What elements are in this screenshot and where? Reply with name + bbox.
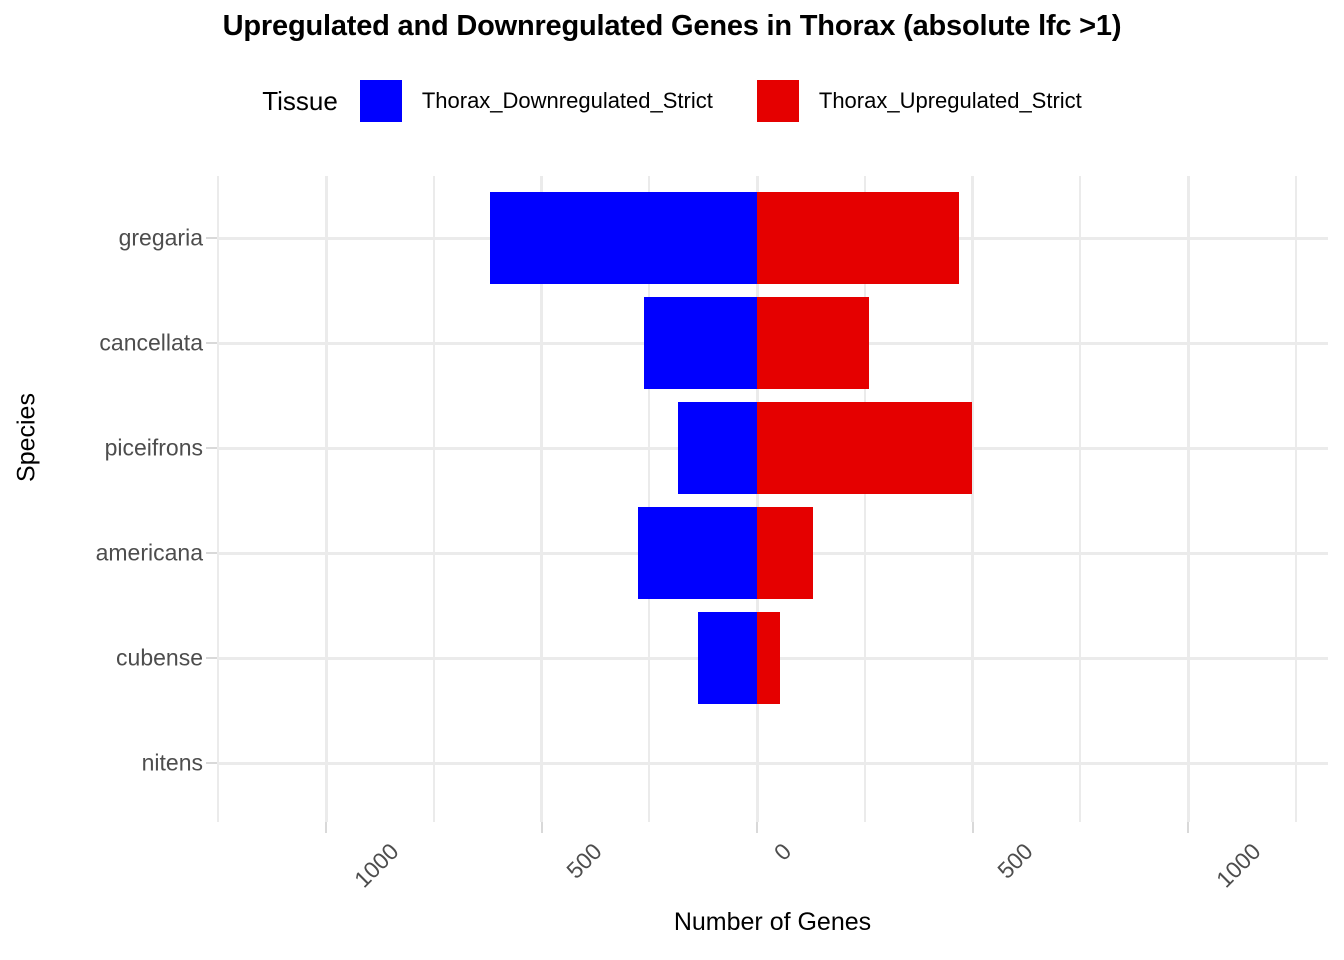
legend-item-upregulated[interactable]: Thorax_Upregulated_Strict: [757, 80, 1082, 122]
chart-figure: Upregulated and Downregulated Genes in T…: [0, 0, 1344, 960]
legend: Tissue Thorax_Downregulated_Strict Thora…: [0, 80, 1344, 122]
y-tick-label-cancellata: cancellata: [3, 330, 203, 357]
gridline-vertical-minor: [433, 176, 435, 822]
gridline-vertical-minor: [1079, 176, 1081, 822]
plot-panel: [217, 176, 1328, 822]
legend-title: Tissue: [262, 86, 338, 117]
bar-upregulated[interactable]: [757, 297, 869, 389]
y-tick-label-gregaria: gregaria: [3, 225, 203, 252]
page-title: Upregulated and Downregulated Genes in T…: [0, 10, 1344, 43]
y-tick-mark: [206, 657, 217, 659]
bar-downregulated[interactable]: [678, 402, 757, 494]
x-tick-label-2: 0: [769, 838, 797, 866]
gridline-vertical-minor: [217, 176, 219, 822]
legend-swatch-upregulated: [757, 80, 799, 122]
bar-downregulated[interactable]: [638, 507, 757, 599]
legend-label-downregulated: Thorax_Downregulated_Strict: [422, 88, 713, 114]
y-tick-label-cubense: cubense: [3, 645, 203, 672]
y-tick-label-nitens: nitens: [3, 750, 203, 777]
x-tick-label-0: 1000: [349, 838, 404, 893]
y-tick-label-piceifrons: piceifrons: [3, 435, 203, 462]
y-tick-label-americana: americana: [3, 540, 203, 567]
bar-upregulated[interactable]: [757, 612, 780, 704]
gridline-vertical-major: [325, 176, 328, 822]
legend-label-upregulated: Thorax_Upregulated_Strict: [819, 88, 1082, 114]
y-tick-mark: [206, 447, 217, 449]
x-axis-title: Number of Genes: [217, 908, 1328, 937]
y-tick-mark: [206, 342, 217, 344]
gridline-vertical-minor: [1295, 176, 1297, 822]
x-tick-mark: [972, 822, 974, 833]
x-tick-label-1: 500: [561, 838, 607, 884]
legend-item-downregulated[interactable]: Thorax_Downregulated_Strict: [360, 80, 713, 122]
x-tick-mark: [325, 822, 327, 833]
x-tick-mark: [1187, 822, 1189, 833]
bar-downregulated[interactable]: [698, 612, 757, 704]
bar-upregulated[interactable]: [757, 192, 959, 284]
bar-downregulated[interactable]: [644, 297, 757, 389]
x-tick-label-3: 500: [992, 838, 1038, 884]
gridline-horizontal: [217, 762, 1328, 765]
bar-downregulated[interactable]: [490, 192, 757, 284]
y-tick-mark: [206, 552, 217, 554]
x-tick-mark: [541, 822, 543, 833]
bar-upregulated[interactable]: [757, 402, 972, 494]
bar-upregulated[interactable]: [757, 507, 813, 599]
x-tick-label-4: 1000: [1211, 838, 1266, 893]
legend-swatch-downregulated: [360, 80, 402, 122]
gridline-vertical-major: [1187, 176, 1190, 822]
x-tick-mark: [756, 822, 758, 833]
y-tick-mark: [206, 237, 217, 239]
gridline-vertical-major: [971, 176, 974, 822]
y-tick-mark: [206, 762, 217, 764]
